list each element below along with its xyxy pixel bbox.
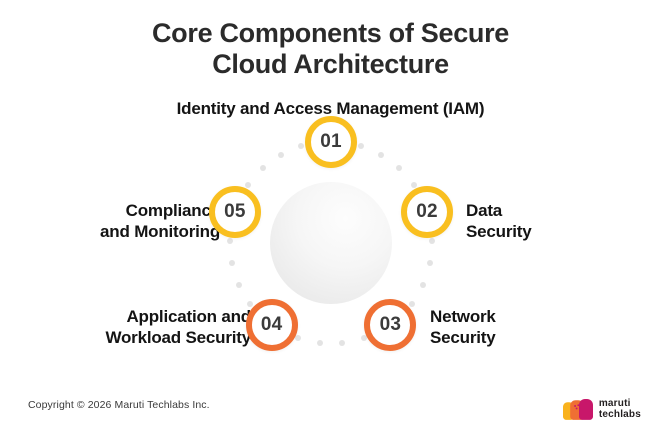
node-label-05: Compliance and Monitoring bbox=[100, 200, 220, 242]
diagram-node-05[interactable]: 05 bbox=[209, 186, 261, 238]
ring-dot bbox=[298, 143, 304, 149]
ring-dot bbox=[358, 143, 364, 149]
node-label-02: Data Security bbox=[466, 200, 532, 242]
node-label-02-line2: Security bbox=[466, 222, 532, 241]
node-label-05-line2: and Monitoring bbox=[100, 222, 220, 241]
logo-mark-icon bbox=[563, 399, 593, 420]
ring-dot bbox=[420, 282, 426, 288]
ring-dot bbox=[229, 260, 235, 266]
page-title: Core Components of Secure Cloud Architec… bbox=[0, 18, 661, 80]
node-number-05: 05 bbox=[224, 201, 246, 223]
ring-dot bbox=[236, 282, 242, 288]
ring-dot bbox=[396, 165, 402, 171]
maruti-techlabs-logo: maruti techlabs bbox=[563, 399, 641, 420]
node-number-01: 01 bbox=[320, 131, 342, 153]
ring-dot bbox=[295, 335, 301, 341]
ring-dot bbox=[260, 165, 266, 171]
title-line-2: Cloud Architecture bbox=[0, 49, 661, 80]
node-number-03: 03 bbox=[380, 314, 402, 336]
ring-dot bbox=[317, 340, 323, 346]
circular-diagram: 01 02 03 04 05 bbox=[216, 128, 446, 358]
ring-dot bbox=[278, 152, 284, 158]
node-number-04: 04 bbox=[261, 314, 283, 336]
logo-name-line2: techlabs bbox=[599, 410, 641, 421]
ring-dot bbox=[427, 260, 433, 266]
node-number-02: 02 bbox=[416, 201, 438, 223]
diagram-node-04[interactable]: 04 bbox=[246, 299, 298, 351]
node-label-02-line1: Data bbox=[466, 201, 502, 220]
ring-dot bbox=[339, 340, 345, 346]
ring-dot bbox=[378, 152, 384, 158]
logo-name-line1: maruti bbox=[599, 399, 641, 410]
diagram-node-03[interactable]: 03 bbox=[364, 299, 416, 351]
diagram-node-01[interactable]: 01 bbox=[305, 116, 357, 168]
ring-dot bbox=[227, 238, 233, 244]
diagram-node-02[interactable]: 02 bbox=[401, 186, 453, 238]
ring-dot bbox=[429, 238, 435, 244]
node-label-05-line1: Compliance bbox=[126, 201, 220, 220]
ring-dot bbox=[245, 182, 251, 188]
ring-dot bbox=[409, 301, 415, 307]
logo-wordmark: maruti techlabs bbox=[599, 399, 641, 420]
copyright-text: Copyright © 2026 Maruti Techlabs Inc. bbox=[28, 398, 210, 412]
infographic-slide: Core Components of Secure Cloud Architec… bbox=[0, 0, 661, 438]
title-line-1: Core Components of Secure bbox=[0, 18, 661, 49]
